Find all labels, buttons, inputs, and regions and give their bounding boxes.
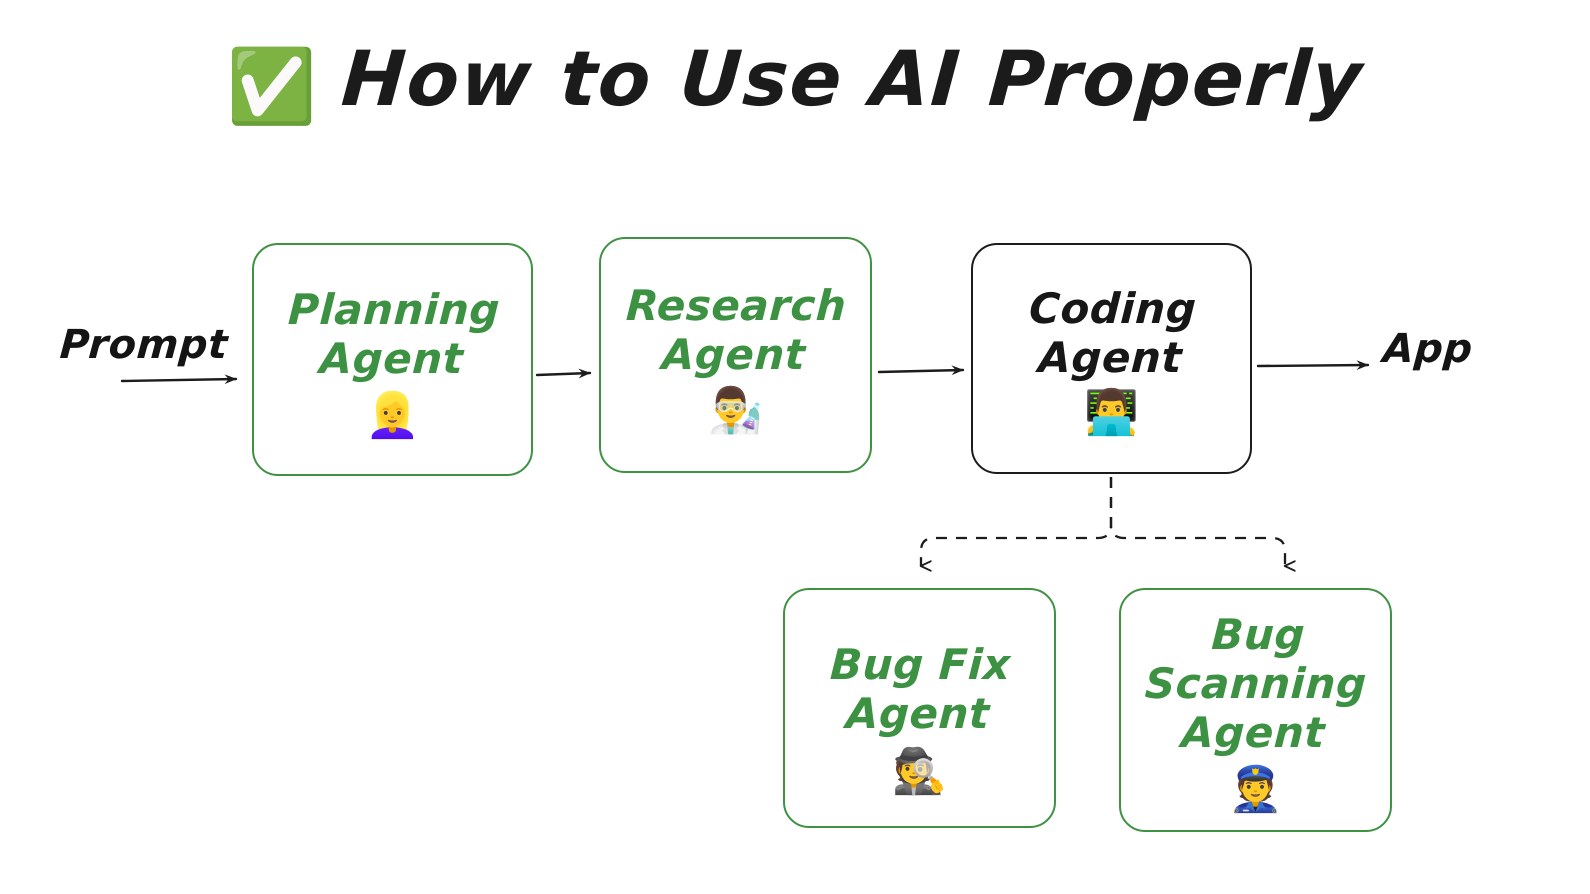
node-planning-agent[interactable]: Planning Agent 👱‍♀️ [252, 243, 533, 476]
node-bug-fix-agent-label: Bug Fix Agent [827, 640, 1012, 738]
man-scientist-icon: 👨‍🔬 [708, 389, 763, 433]
node-bug-fix-agent[interactable]: Bug Fix Agent 🕵️ [783, 588, 1056, 828]
detective-icon: 🕵️ [892, 750, 947, 794]
page-title-text: How to Use AI Properly [339, 34, 1366, 123]
node-bug-scanning-agent[interactable]: Bug Scanning Agent 👮 [1119, 588, 1392, 832]
node-research-agent[interactable]: Research Agent 👨‍🔬 [599, 237, 872, 473]
edge-coding-to-app [1258, 365, 1368, 366]
page-title: ✅How to Use AI Properly [0, 34, 1590, 123]
edge-label-app: App [1381, 326, 1474, 372]
node-coding-agent[interactable]: Coding Agent 👨‍💻 [971, 243, 1252, 474]
police-officer-icon: 👮 [1228, 768, 1283, 812]
edge-planning-to-research [537, 373, 590, 375]
edge-label-prompt: Prompt [58, 322, 229, 368]
node-planning-agent-label: Planning Agent [284, 285, 501, 383]
edge-research-to-coding [879, 370, 963, 372]
node-research-agent-label: Research Agent [623, 281, 848, 379]
check-mark-icon: ✅ [227, 50, 317, 122]
blonde-woman-icon: 👱‍♀️ [365, 394, 420, 438]
edge-coding-to-bugscan [1111, 477, 1285, 566]
edge-prompt-to-planning [122, 379, 236, 381]
man-technologist-icon: 👨‍💻 [1084, 391, 1139, 435]
node-coding-agent-label: Coding Agent [1025, 284, 1197, 382]
node-bug-scanning-agent-label: Bug Scanning Agent [1141, 610, 1370, 757]
edge-coding-to-bugfix [921, 477, 1111, 566]
